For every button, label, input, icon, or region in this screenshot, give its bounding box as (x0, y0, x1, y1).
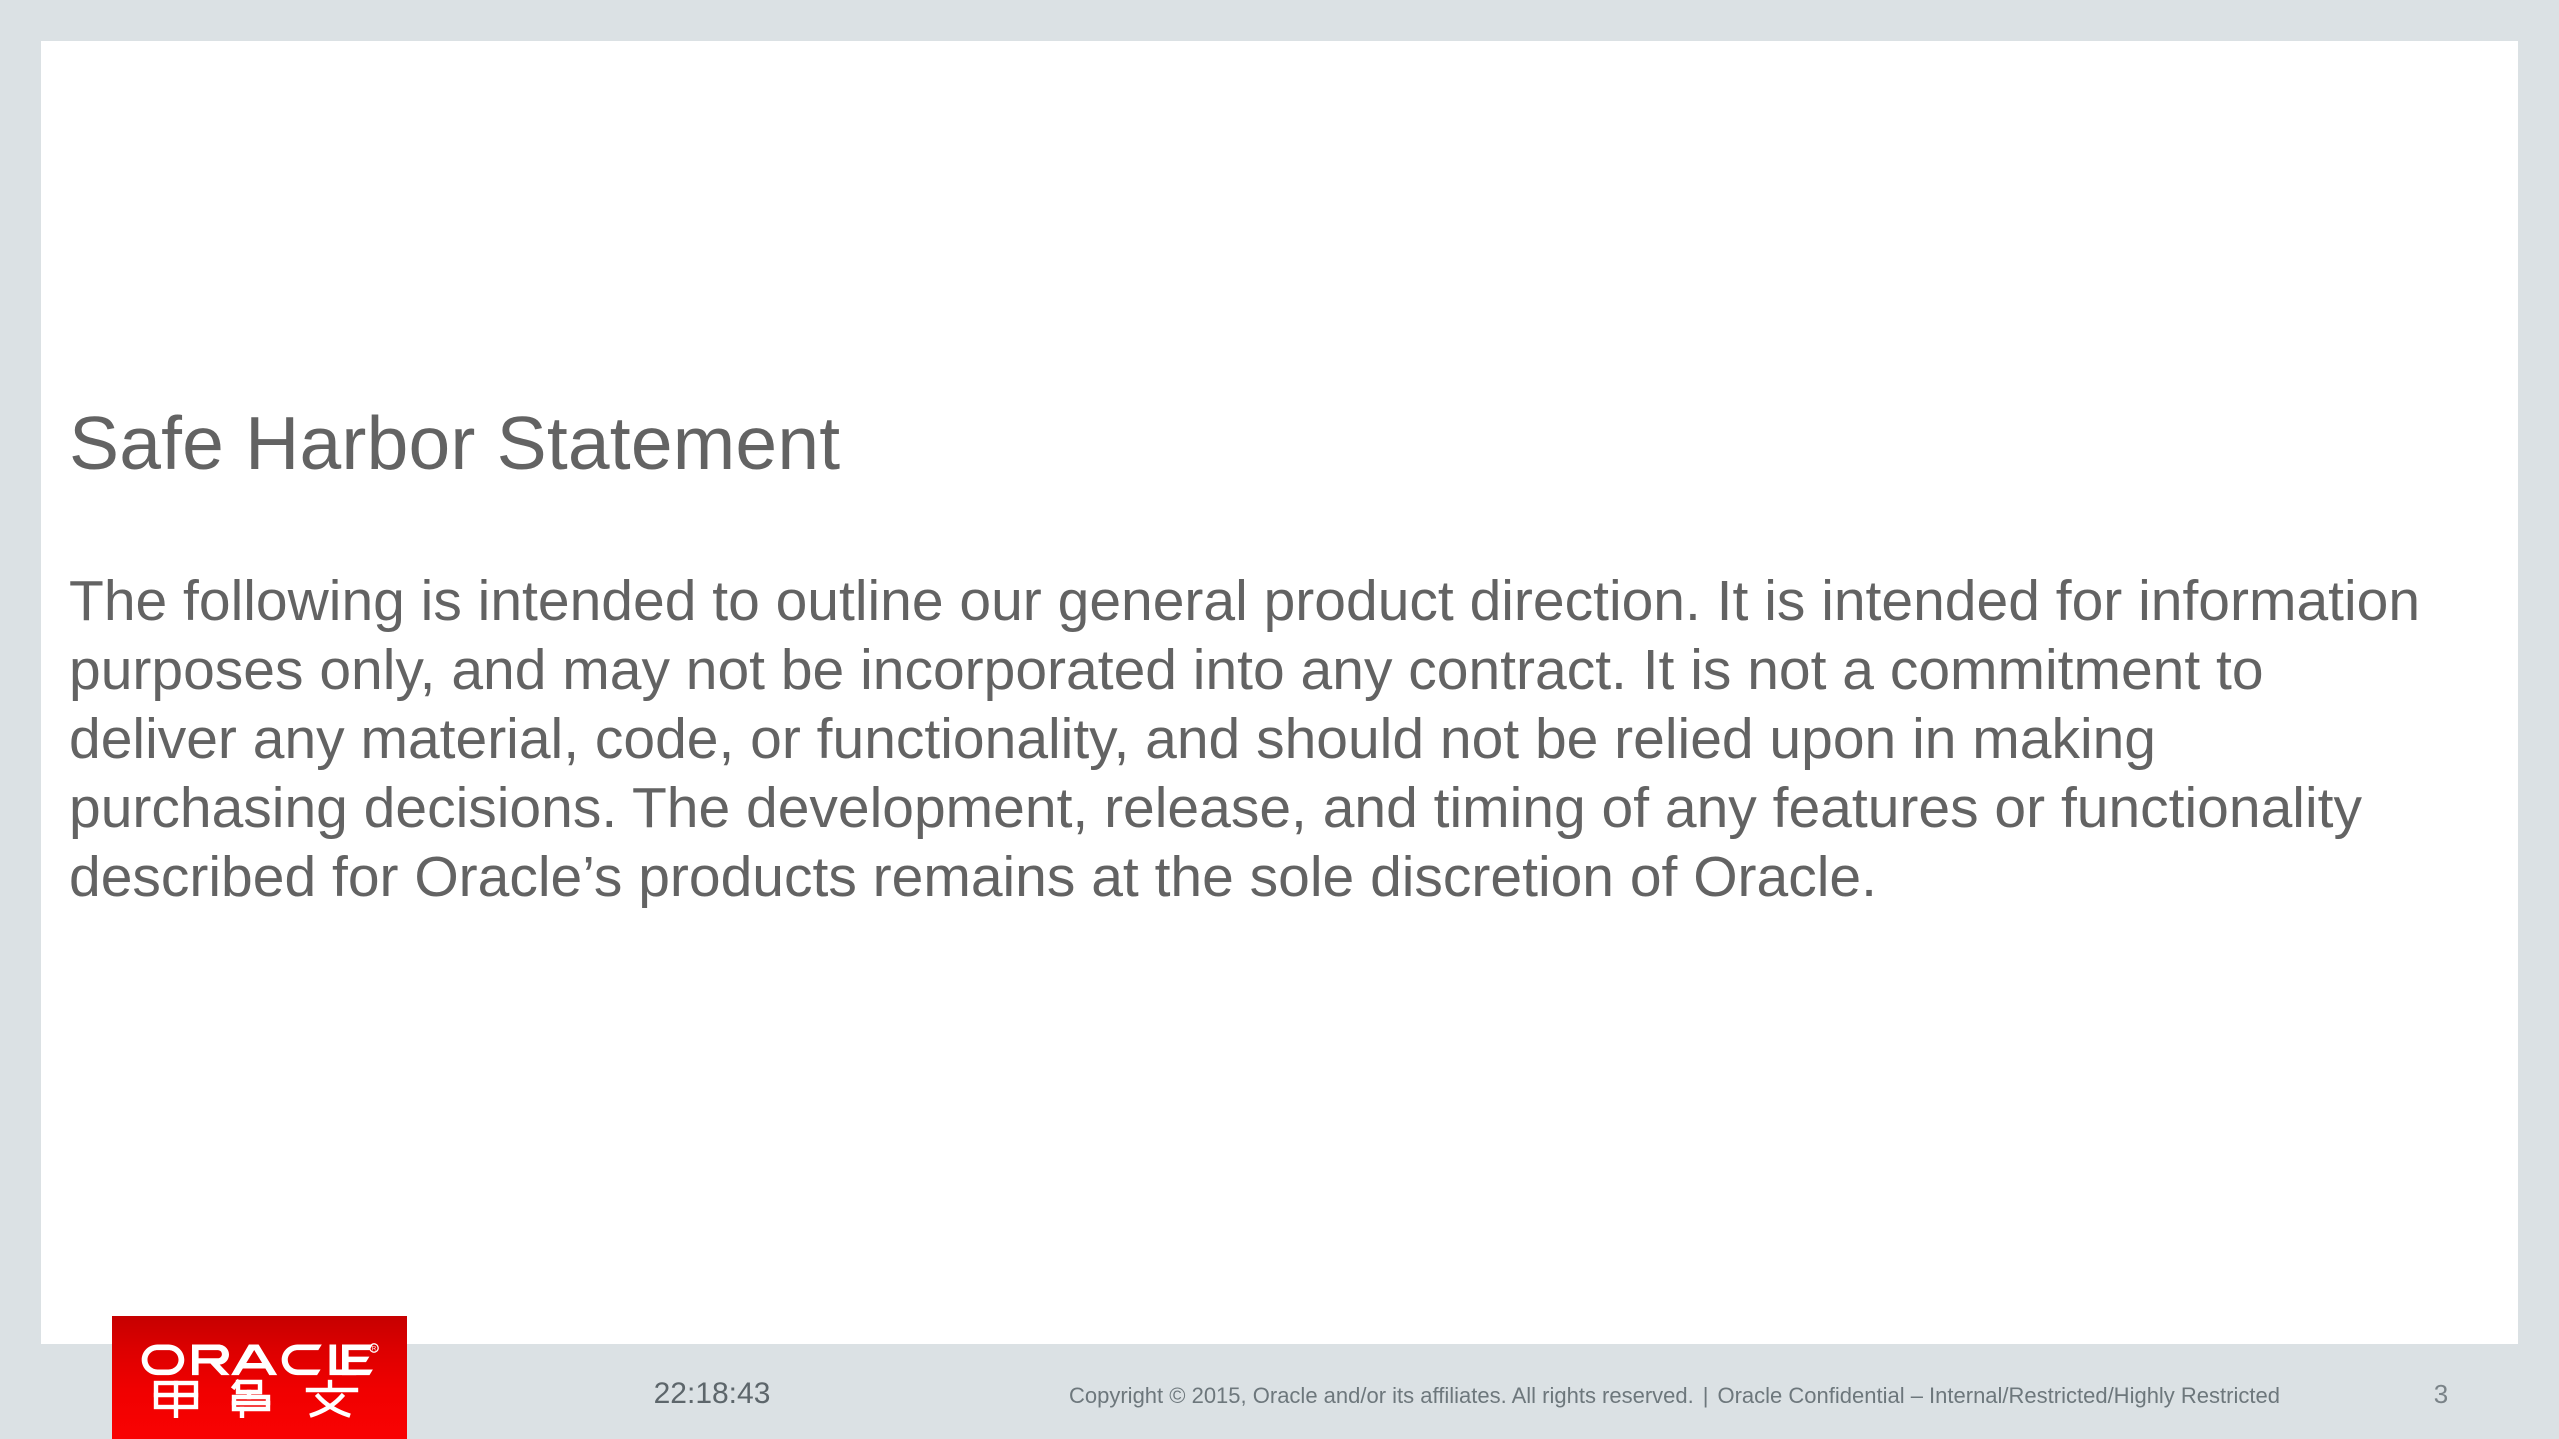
page-title: Safe Harbor Statement (69, 402, 840, 485)
footer-separator: | (1694, 1383, 1718, 1408)
footer-copyright-text: Copyright © 2015, Oracle and/or its affi… (1069, 1383, 1694, 1408)
oracle-wordmark-icon: R (140, 1343, 380, 1377)
footer-clock: 22:18:43 (654, 1377, 771, 1411)
footer-confidentiality-text: Oracle Confidential – Internal/Restricte… (1717, 1383, 2279, 1408)
slide-body-text: The following is intended to outline our… (69, 567, 2429, 912)
slide-page-number: 3 (2434, 1379, 2448, 1410)
svg-text:R: R (372, 1347, 377, 1353)
footer-legal-text: Copyright © 2015, Oracle and/or its affi… (1069, 1383, 2280, 1409)
oracle-cjk-name-icon (142, 1378, 378, 1418)
oracle-logo-inner: R (112, 1316, 407, 1439)
presentation-slide: Safe Harbor Statement The following is i… (0, 0, 2559, 1439)
oracle-logo: R (112, 1316, 407, 1439)
